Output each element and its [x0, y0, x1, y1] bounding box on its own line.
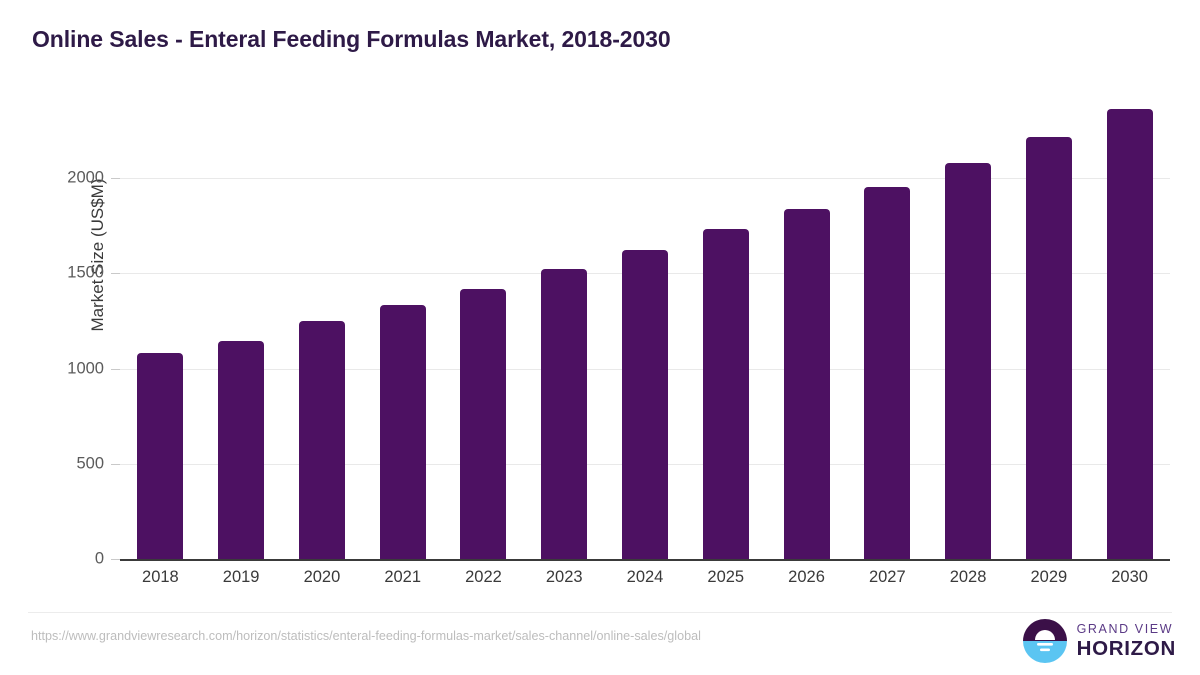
source-url[interactable]: https://www.grandviewresearch.com/horizo… — [31, 629, 701, 643]
x-tick-label-2022: 2022 — [438, 568, 528, 587]
bar-2022[interactable] — [460, 289, 506, 560]
x-tick-label-2019: 2019 — [196, 568, 286, 587]
y-tick-label: 1000 — [14, 359, 104, 378]
x-tick-label-2024: 2024 — [600, 568, 690, 587]
y-tick-label: 500 — [14, 454, 104, 473]
gridline — [120, 178, 1170, 179]
logo-wordmark: GRAND VIEW HORIZON — [1077, 623, 1176, 659]
bar-2029[interactable] — [1026, 137, 1072, 559]
chart-canvas: Online Sales - Enteral Feeding Formulas … — [0, 0, 1200, 675]
bar-2020[interactable] — [299, 321, 345, 559]
x-tick-label-2028: 2028 — [923, 568, 1013, 587]
x-tick-label-2018: 2018 — [115, 568, 205, 587]
bar-2018[interactable] — [137, 353, 183, 559]
footer-divider — [28, 612, 1172, 613]
bar-2025[interactable] — [703, 229, 749, 560]
y-tick-mark — [111, 178, 120, 179]
x-tick-label-2026: 2026 — [762, 568, 852, 587]
x-tick-label-2029: 2029 — [1004, 568, 1094, 587]
y-tick-mark — [111, 464, 120, 465]
y-tick-mark — [111, 559, 120, 560]
bar-2019[interactable] — [218, 341, 264, 559]
x-tick-label-2030: 2030 — [1085, 568, 1175, 587]
bar-2023[interactable] — [541, 269, 587, 559]
bar-2027[interactable] — [864, 187, 910, 559]
x-tick-label-2020: 2020 — [277, 568, 367, 587]
bar-2021[interactable] — [380, 305, 426, 559]
y-axis-tick-labels: 0500100015002000 — [0, 98, 104, 559]
x-tick-label-2027: 2027 — [842, 568, 932, 587]
x-axis-line — [120, 559, 1170, 561]
bar-2026[interactable] — [784, 209, 830, 560]
horizon-circle-icon — [1023, 619, 1067, 663]
y-tick-label: 1500 — [14, 264, 104, 283]
y-tick-mark — [111, 369, 120, 370]
y-tick-mark — [111, 273, 120, 274]
logo-line-horizon: HORIZON — [1077, 639, 1176, 660]
grand-view-horizon-logo[interactable]: GRAND VIEW HORIZON — [1023, 618, 1176, 664]
x-tick-label-2025: 2025 — [681, 568, 771, 587]
x-tick-label-2023: 2023 — [519, 568, 609, 587]
y-tick-label: 0 — [14, 550, 104, 569]
y-tick-label: 2000 — [14, 169, 104, 188]
plot-area — [120, 98, 1170, 559]
logo-line-grand-view: GRAND VIEW — [1077, 623, 1176, 636]
x-tick-label-2021: 2021 — [358, 568, 448, 587]
bar-2028[interactable] — [945, 163, 991, 559]
bar-2024[interactable] — [622, 250, 668, 559]
bar-2030[interactable] — [1107, 109, 1153, 559]
chart-title: Online Sales - Enteral Feeding Formulas … — [32, 26, 671, 53]
x-axis-tick-labels: 2018201920202021202220232024202520262027… — [120, 568, 1170, 596]
